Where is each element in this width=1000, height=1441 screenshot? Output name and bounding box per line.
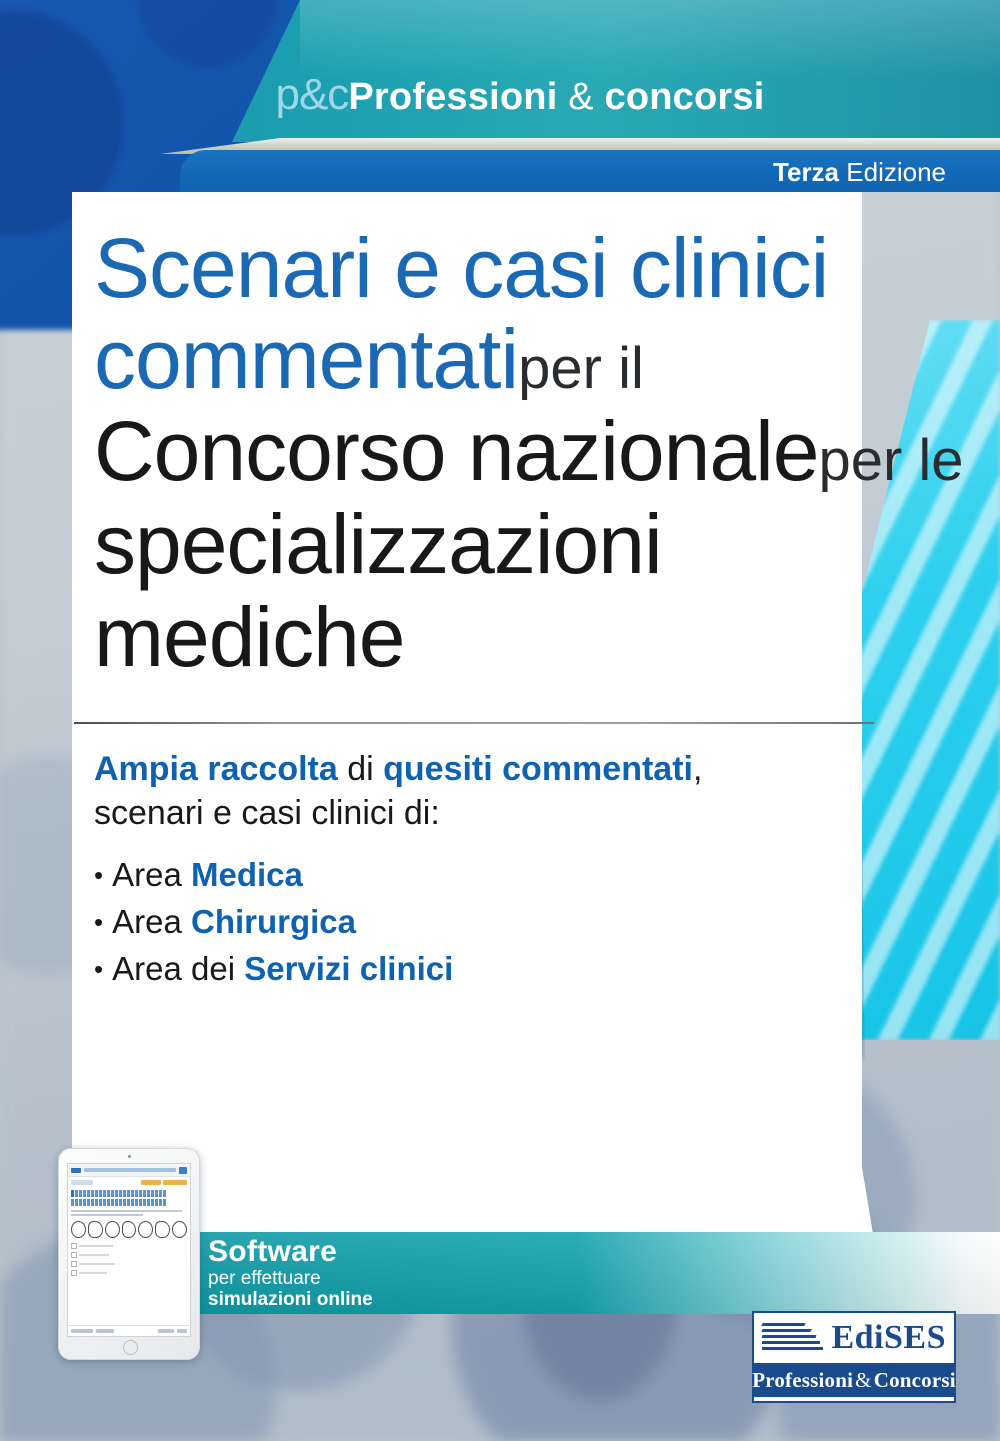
publisher-tagline-amp: & bbox=[853, 1368, 874, 1393]
subtitle-plain-2: , bbox=[693, 750, 702, 788]
list-item-prefix: Area bbox=[112, 856, 191, 893]
answer-option bbox=[71, 1243, 187, 1249]
title-line-3: Concorso nazionale bbox=[94, 404, 818, 498]
bullet-icon: • bbox=[94, 954, 103, 984]
bullet-icon: • bbox=[94, 907, 103, 937]
subtitle-line-2: scenari e casi clinici di: bbox=[94, 794, 440, 832]
figure-icon bbox=[172, 1221, 187, 1238]
status-spacer bbox=[95, 1180, 139, 1185]
subtitle-block: Ampia raccolta di quesiti commentati, sc… bbox=[94, 748, 814, 835]
tablet-home-button bbox=[123, 1340, 138, 1355]
figure-icon bbox=[88, 1221, 103, 1238]
edition-bold: Terza bbox=[773, 157, 839, 187]
book-cover: p&cProfessioni & concorsi Terza Edizione… bbox=[0, 0, 1000, 1441]
list-item: •Area Medica bbox=[94, 852, 794, 899]
lock-icon bbox=[179, 1167, 187, 1174]
status-chip-timer bbox=[163, 1180, 187, 1185]
tablet-screen bbox=[67, 1163, 191, 1337]
list-item-highlight: Servizi clinici bbox=[244, 950, 453, 987]
grid-row bbox=[71, 1190, 187, 1197]
answer-option bbox=[71, 1252, 187, 1258]
subtitle-bold-1: Ampia raccolta bbox=[94, 750, 338, 788]
list-item-highlight: Medica bbox=[191, 856, 303, 893]
page-title: Scenari e casi clinici commentatiper il … bbox=[94, 228, 894, 677]
app-title-placeholder bbox=[84, 1168, 176, 1172]
software-banner-text: Software per effettuare simulazioni onli… bbox=[208, 1236, 373, 1310]
title-line-2: commentati bbox=[94, 312, 518, 406]
figure-icon bbox=[71, 1221, 86, 1238]
brand-name-part2: concorsi bbox=[605, 76, 765, 118]
list-item-prefix: Area dei bbox=[112, 950, 244, 987]
title-line-2-suffix: per il bbox=[518, 336, 644, 401]
app-logo-icon bbox=[71, 1168, 81, 1173]
figure-icon bbox=[105, 1221, 120, 1238]
brand-name-part1: Professioni bbox=[348, 76, 557, 118]
edition-label: Terza Edizione bbox=[773, 157, 946, 188]
brand-lockup: p&cProfessioni & concorsi bbox=[20, 70, 1000, 120]
title-divider bbox=[74, 722, 874, 724]
status-chip bbox=[71, 1180, 93, 1185]
figure-icon bbox=[138, 1221, 153, 1238]
publisher-logo-top: EdiSES bbox=[754, 1313, 954, 1363]
list-item: •Area dei Servizi clinici bbox=[94, 946, 794, 993]
title-line-1: Scenari e casi clinici bbox=[94, 221, 828, 315]
brand-mark-pc: p&c bbox=[275, 70, 348, 119]
publisher-name: EdiSES bbox=[831, 1319, 946, 1357]
title-line-5: mediche bbox=[94, 590, 405, 684]
question-text-placeholder bbox=[68, 1208, 190, 1218]
open-book-icon bbox=[762, 1321, 823, 1355]
bullet-icon: • bbox=[94, 860, 103, 890]
publisher-tagline-part2: Concorsi bbox=[874, 1368, 956, 1393]
app-footer-bar bbox=[68, 1325, 190, 1336]
title-line-4: specializzazioni bbox=[94, 497, 662, 591]
brand-ampersand: & bbox=[557, 76, 604, 118]
list-item-prefix: Area bbox=[112, 903, 191, 940]
subtitle-plain-1: di bbox=[338, 750, 383, 788]
software-subtitle-1: per effettuare bbox=[208, 1268, 373, 1289]
figure-icon bbox=[122, 1221, 137, 1238]
figure-icon bbox=[155, 1221, 170, 1238]
list-item: •Area Chirurgica bbox=[94, 899, 794, 946]
answer-option bbox=[71, 1270, 187, 1276]
publisher-tagline: Professioni&Concorsi bbox=[754, 1363, 954, 1397]
question-number-grid bbox=[68, 1188, 190, 1208]
app-toolbar bbox=[68, 1164, 190, 1177]
tablet-mockup bbox=[58, 1148, 200, 1360]
software-subtitle-2: simulazioni online bbox=[208, 1289, 373, 1310]
status-chip-amber bbox=[141, 1180, 161, 1185]
app-status-bar bbox=[68, 1177, 190, 1188]
answer-options bbox=[68, 1241, 190, 1278]
answer-option bbox=[71, 1261, 187, 1267]
title-line-3-suffix: per le bbox=[818, 428, 963, 493]
subtitle-bold-2: quesiti commentati bbox=[383, 750, 693, 788]
edition-rest: Edizione bbox=[846, 157, 946, 187]
list-item-highlight: Chirurgica bbox=[191, 903, 356, 940]
grid-row bbox=[71, 1199, 187, 1206]
publisher-tagline-part1: Professioni bbox=[752, 1368, 853, 1393]
question-figures bbox=[68, 1218, 190, 1241]
publisher-logo: EdiSES Professioni&Concorsi bbox=[752, 1311, 956, 1403]
tablet-camera-icon bbox=[128, 1155, 131, 1158]
software-title: Software bbox=[208, 1236, 373, 1268]
area-list: •Area Medica •Area Chirurgica •Area dei … bbox=[94, 852, 794, 993]
